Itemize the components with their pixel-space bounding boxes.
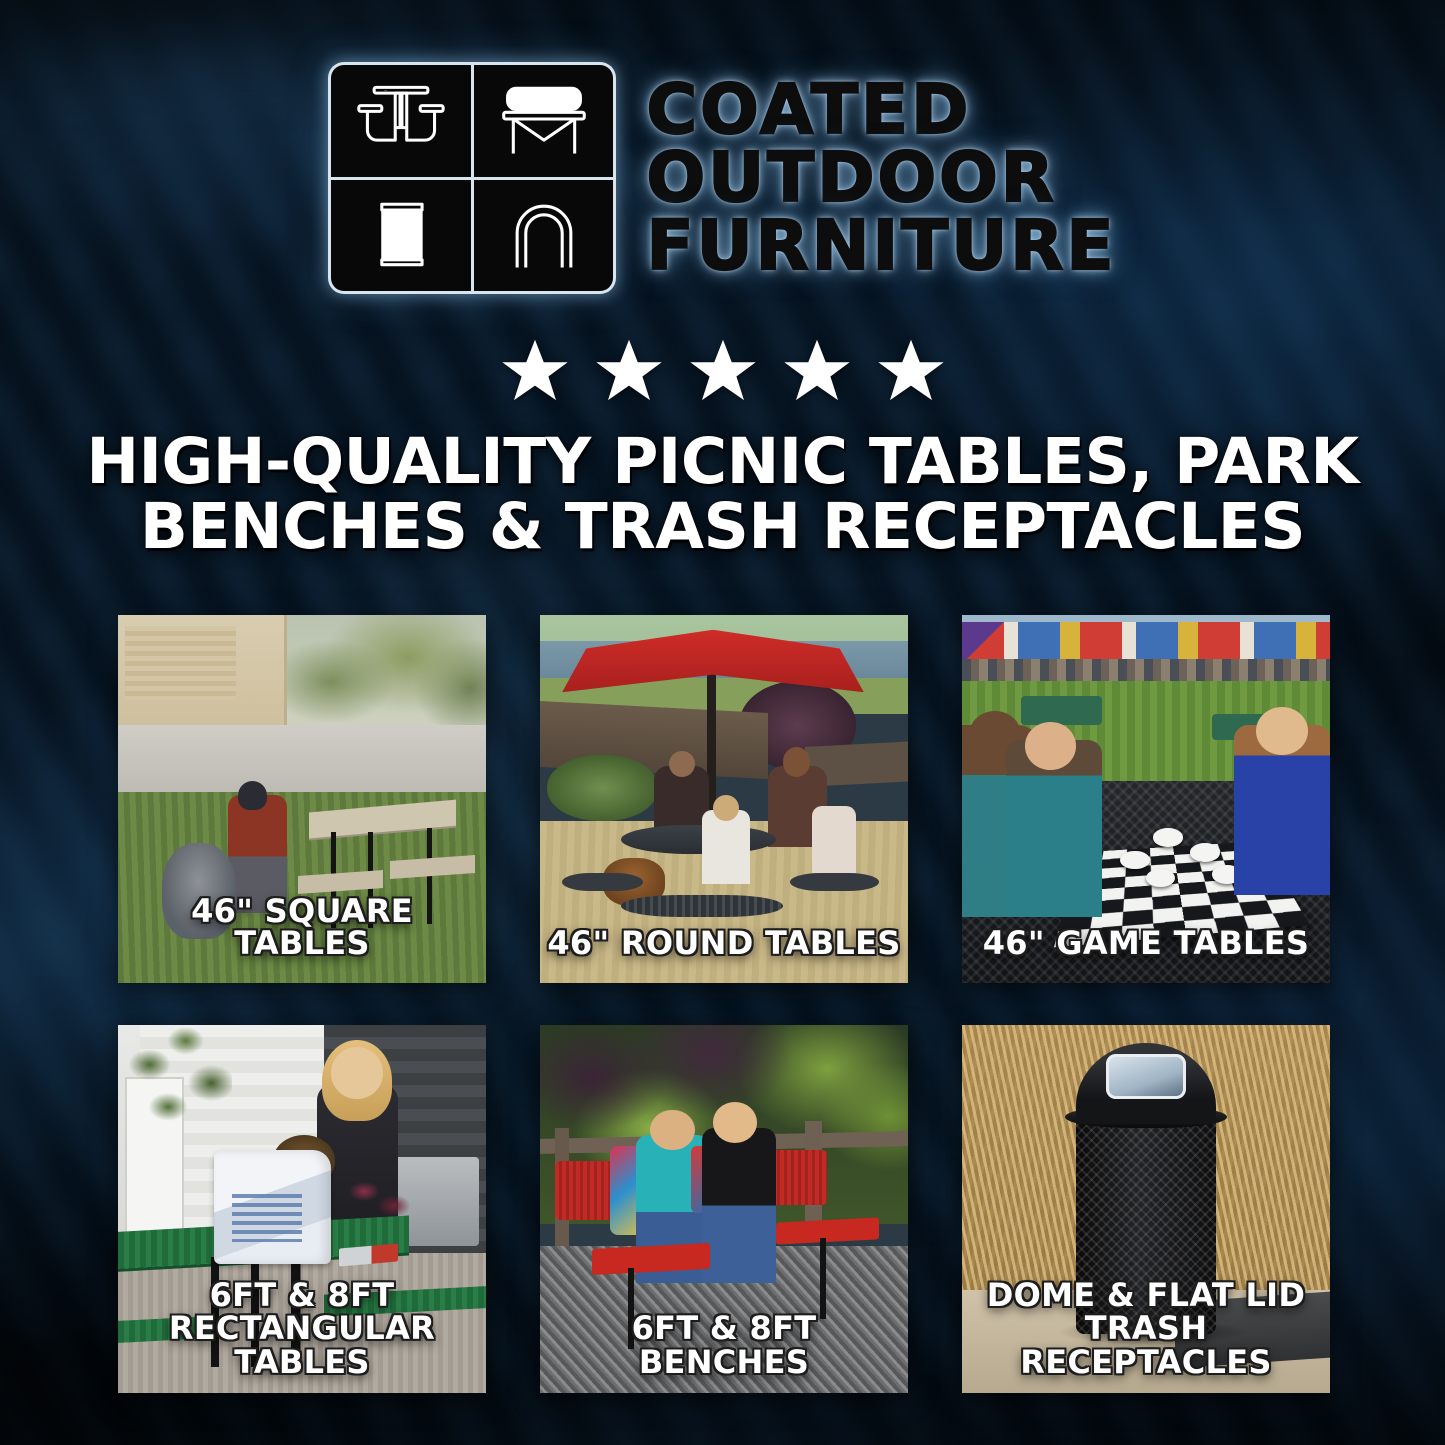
page-title: HIGH-QUALITY PICNIC TABLES, PARK BENCHES… xyxy=(70,430,1375,560)
star-icon xyxy=(781,336,853,406)
headline-line-1: HIGH-QUALITY PICNIC TABLES, PARK xyxy=(70,430,1375,495)
star-icon xyxy=(687,336,759,406)
product-caption-line-1: DOME & FLAT LID xyxy=(968,1279,1324,1312)
star-rating xyxy=(0,336,1445,406)
product-caption-line-2: TRASH RECEPTACLES xyxy=(968,1312,1324,1379)
bike-rack-icon xyxy=(474,180,614,292)
product-card-rectangular-tables[interactable]: 6FT & 8FT RECTANGULAR TABLES xyxy=(118,1025,486,1393)
picnic-table-icon xyxy=(331,65,471,177)
advertisement-page: COATED OUTDOOR FURNITURE HIGH-QUALITY PI… xyxy=(0,0,1445,1445)
product-caption-line-2: BENCHES xyxy=(546,1346,902,1379)
product-card-trash-receptacles[interactable]: DOME & FLAT LID TRASH RECEPTACLES xyxy=(962,1025,1330,1393)
product-caption-line-1: 6FT & 8FT xyxy=(546,1312,902,1345)
product-caption: 46" GAME TABLES xyxy=(968,927,1324,959)
product-card-round-tables[interactable]: 46" ROUND TABLES xyxy=(540,615,908,983)
brand-line-1: COATED xyxy=(646,78,1116,142)
product-card-game-tables[interactable]: 46" GAME TABLES xyxy=(962,615,1330,983)
product-caption: 6FT & 8FT RECTANGULAR TABLES xyxy=(124,1279,480,1379)
star-icon xyxy=(593,336,665,406)
park-bench-icon xyxy=(474,65,614,177)
product-caption: 6FT & 8FT BENCHES xyxy=(546,1312,902,1379)
brand-line-2: OUTDOOR xyxy=(646,146,1116,210)
product-caption: 46" SQUARE TABLES xyxy=(124,895,480,959)
brand-header: COATED OUTDOOR FURNITURE xyxy=(0,62,1445,294)
product-caption-line-1: 46" SQUARE TABLES xyxy=(124,895,480,959)
star-icon xyxy=(499,336,571,406)
trash-receptacle-icon xyxy=(331,180,471,292)
product-caption: DOME & FLAT LID TRASH RECEPTACLES xyxy=(968,1279,1324,1379)
product-card-square-tables[interactable]: 46" SQUARE TABLES xyxy=(118,615,486,983)
company-logo xyxy=(328,62,616,294)
product-caption-line-1: 6FT & 8FT xyxy=(124,1279,480,1312)
star-icon xyxy=(875,336,947,406)
headline-line-2: BENCHES & TRASH RECEPTACLES xyxy=(70,495,1375,560)
product-caption-line-1: 46" GAME TABLES xyxy=(968,927,1324,959)
product-caption-line-1: 46" ROUND TABLES xyxy=(546,927,902,959)
product-card-benches[interactable]: 6FT & 8FT BENCHES xyxy=(540,1025,908,1393)
product-caption: 46" ROUND TABLES xyxy=(546,927,902,959)
product-caption-line-2: RECTANGULAR TABLES xyxy=(124,1312,480,1379)
brand-wordmark: COATED OUTDOOR FURNITURE xyxy=(646,78,1116,278)
brand-line-3: FURNITURE xyxy=(646,214,1116,278)
product-grid: 46" SQUARE TABLES xyxy=(118,615,1330,1393)
